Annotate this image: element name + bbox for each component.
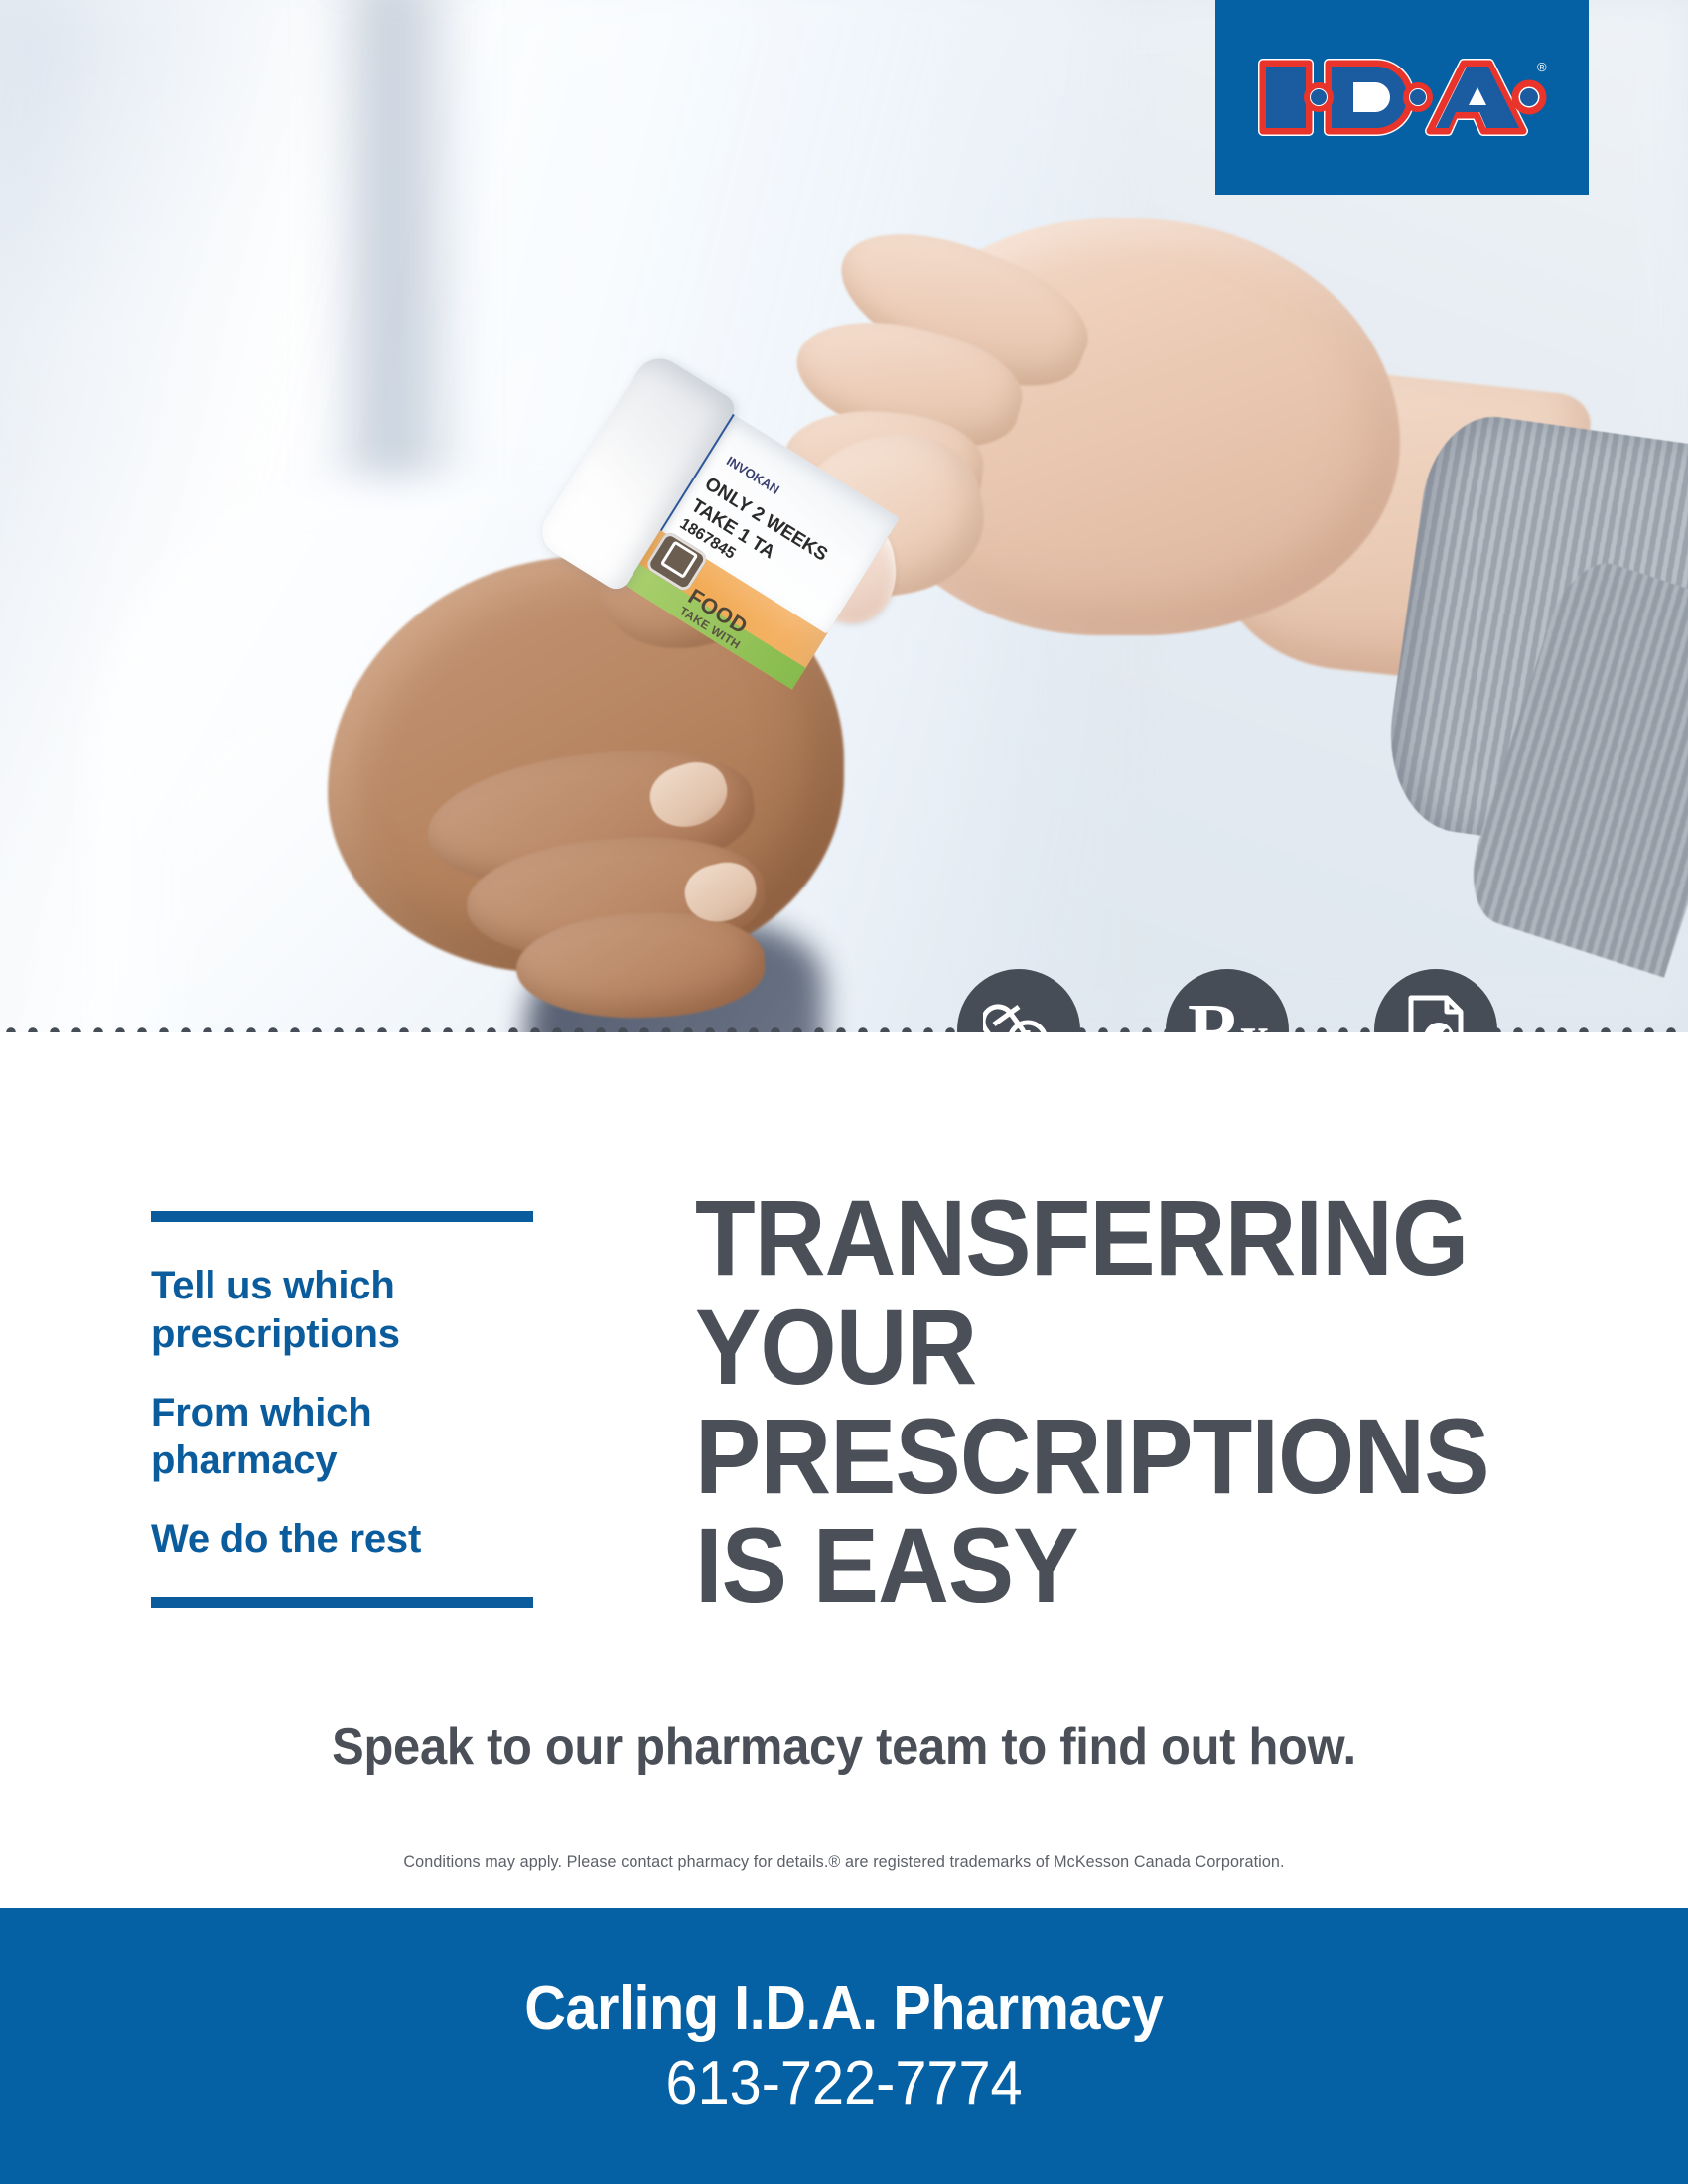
footer-bar: Carling I.D.A. Pharmacy 613-722-7774	[0, 1908, 1688, 2184]
steps-rule-top	[151, 1211, 533, 1222]
page-title: TRANSFERRING YOUR PRESCRIPTIONS IS EASY	[695, 1183, 1480, 1621]
step-item-1: Tell us which prescriptions	[151, 1262, 533, 1359]
svg-text:®: ®	[1537, 60, 1547, 74]
ida-logo-mark: ®	[1253, 50, 1551, 145]
fineprint-disclaimer: Conditions may apply. Please contact pha…	[43, 1852, 1646, 1872]
pharmacy-name: Carling I.D.A. Pharmacy	[524, 1974, 1163, 2044]
pharmacy-phone[interactable]: 613-722-7774	[665, 2048, 1022, 2118]
subheadline: Speak to our pharmacy team to find out h…	[51, 1717, 1637, 1777]
ida-logo: ®	[1215, 0, 1589, 195]
steps-rule-bottom	[151, 1597, 533, 1608]
content-area: Tell us which prescriptions From which p…	[0, 1032, 1688, 1908]
step-item-2: From which pharmacy	[151, 1389, 533, 1486]
step-item-3: We do the rest	[151, 1515, 533, 1564]
steps-list: Tell us which prescriptions From which p…	[151, 1211, 533, 1608]
